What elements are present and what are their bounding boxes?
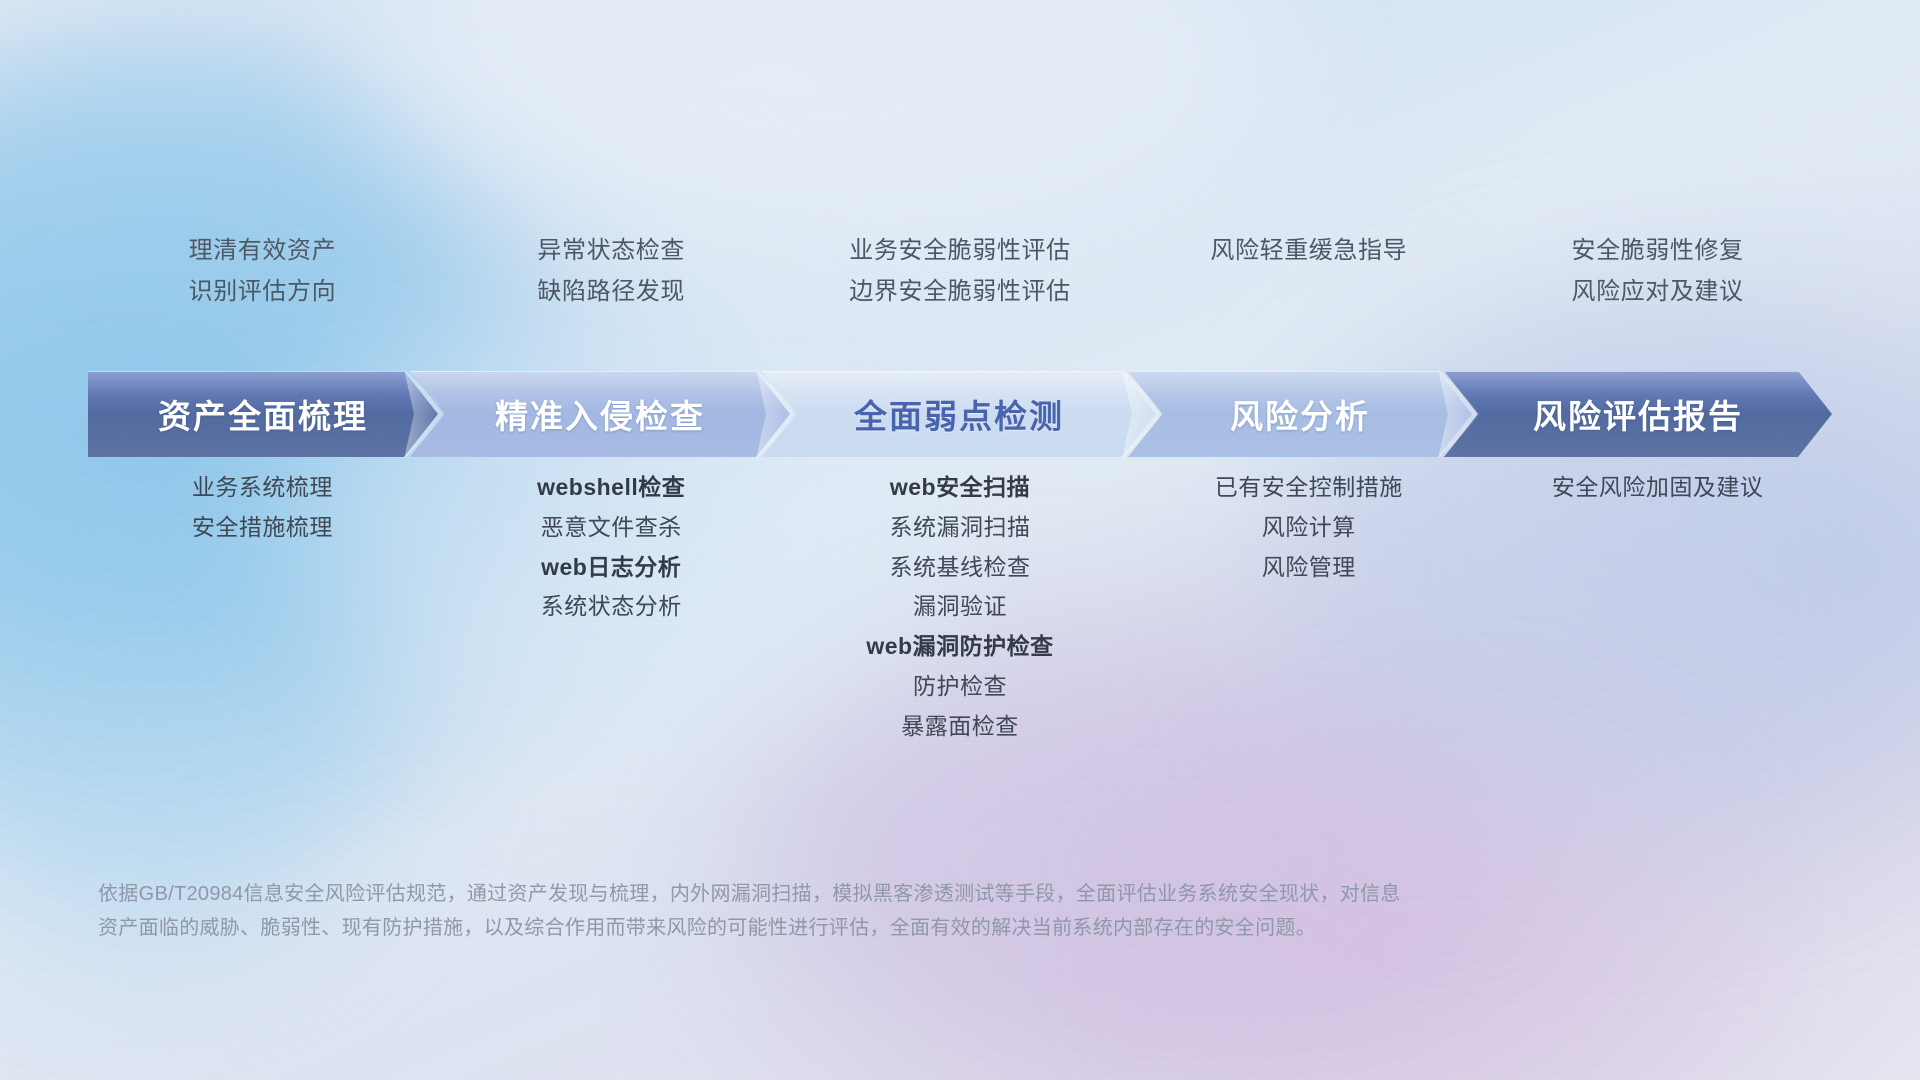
- top-note: 业务安全脆弱性评估: [786, 230, 1135, 271]
- list-item: 已有安全控制措施: [1134, 468, 1483, 508]
- list-item: 风险管理: [1134, 548, 1483, 588]
- footer-description: 依据GB/T20984信息安全风险评估规范，通过资产发现与梳理，内外网漏洞扫描，…: [98, 878, 1628, 945]
- detail-list-stage-4: 已有安全控制措施 风险计算 风险管理: [1134, 468, 1483, 746]
- top-note: 边界安全脆弱性评估: [786, 271, 1135, 312]
- detail-list-stage-3: web安全扫描 系统漏洞扫描 系统基线检查 漏洞验证 web漏洞防护检查 防护检…: [786, 468, 1135, 746]
- list-item: 系统漏洞扫描: [786, 508, 1135, 548]
- list-item: webshell检查: [437, 468, 786, 508]
- background-blob-top: [380, 0, 1280, 260]
- top-note: 缺陷路径发现: [437, 271, 786, 312]
- top-notes-stage-3: 业务安全脆弱性评估 边界安全脆弱性评估: [786, 230, 1135, 313]
- detail-list-stage-2: webshell检查 恶意文件查杀 web日志分析 系统状态分析: [437, 468, 786, 746]
- list-item: 系统基线检查: [786, 548, 1135, 588]
- top-notes-row: 理清有效资产 识别评估方向 异常状态检查 缺陷路径发现 业务安全脆弱性评估 边界…: [88, 230, 1832, 313]
- list-item: 暴露面检查: [786, 707, 1135, 747]
- top-note: 异常状态检查: [437, 230, 786, 271]
- stage-chevron-1[interactable]: 资产全面梳理: [88, 371, 438, 457]
- top-notes-stage-2: 异常状态检查 缺陷路径发现: [437, 230, 786, 313]
- footer-line-1: 依据GB/T20984信息安全风险评估规范，通过资产发现与梳理，内外网漏洞扫描，…: [98, 878, 1628, 912]
- stage-title-5: 风险评估报告: [1533, 390, 1743, 438]
- list-item: 安全措施梳理: [88, 508, 437, 548]
- stage-title-2: 精准入侵检查: [495, 390, 705, 438]
- stage-title-4: 风险分析: [1230, 390, 1370, 438]
- stage-title-3: 全面弱点检测: [854, 390, 1064, 438]
- stage-chevron-2[interactable]: 精准入侵检查: [410, 371, 790, 457]
- top-notes-stage-1: 理清有效资产 识别评估方向: [88, 230, 437, 313]
- list-item: 安全风险加固及建议: [1483, 468, 1832, 508]
- stage-chevron-3[interactable]: 全面弱点检测: [762, 371, 1156, 457]
- process-arrow-banner: 资产全面梳理 精准入侵检查 全面弱点检测 风险分析 风险评估报告: [88, 371, 1832, 457]
- list-item: 恶意文件查杀: [437, 508, 786, 548]
- detail-lists-row: 业务系统梳理 安全措施梳理 webshell检查 恶意文件查杀 web日志分析 …: [88, 468, 1832, 746]
- slide-canvas: 理清有效资产 识别评估方向 异常状态检查 缺陷路径发现 业务安全脆弱性评估 边界…: [0, 0, 1920, 1080]
- list-item: web日志分析: [437, 548, 786, 588]
- list-item: web漏洞防护检查: [786, 627, 1135, 667]
- list-item: 系统状态分析: [437, 587, 786, 627]
- top-notes-stage-5: 安全脆弱性修复 风险应对及建议: [1483, 230, 1832, 313]
- stage-title-1: 资产全面梳理: [158, 390, 368, 438]
- list-item: 风险计算: [1134, 508, 1483, 548]
- list-item: 业务系统梳理: [88, 468, 437, 508]
- top-note: 风险应对及建议: [1483, 271, 1832, 312]
- top-note: 识别评估方向: [88, 271, 437, 312]
- top-notes-stage-4: 风险轻重缓急指导: [1134, 230, 1483, 313]
- top-note: 安全脆弱性修复: [1483, 230, 1832, 271]
- top-note: 风险轻重缓急指导: [1134, 230, 1483, 271]
- detail-list-stage-1: 业务系统梳理 安全措施梳理: [88, 468, 437, 746]
- footer-line-2: 资产面临的威胁、脆弱性、现有防护措施，以及综合作用而带来风险的可能性进行评估，全…: [98, 912, 1628, 946]
- list-item: web安全扫描: [786, 468, 1135, 508]
- top-note: 理清有效资产: [88, 230, 437, 271]
- list-item: 防护检查: [786, 667, 1135, 707]
- list-item: 漏洞验证: [786, 587, 1135, 627]
- detail-list-stage-5: 安全风险加固及建议: [1483, 468, 1832, 746]
- stage-chevron-4[interactable]: 风险分析: [1128, 371, 1472, 457]
- stage-chevron-5[interactable]: 风险评估报告: [1444, 371, 1832, 457]
